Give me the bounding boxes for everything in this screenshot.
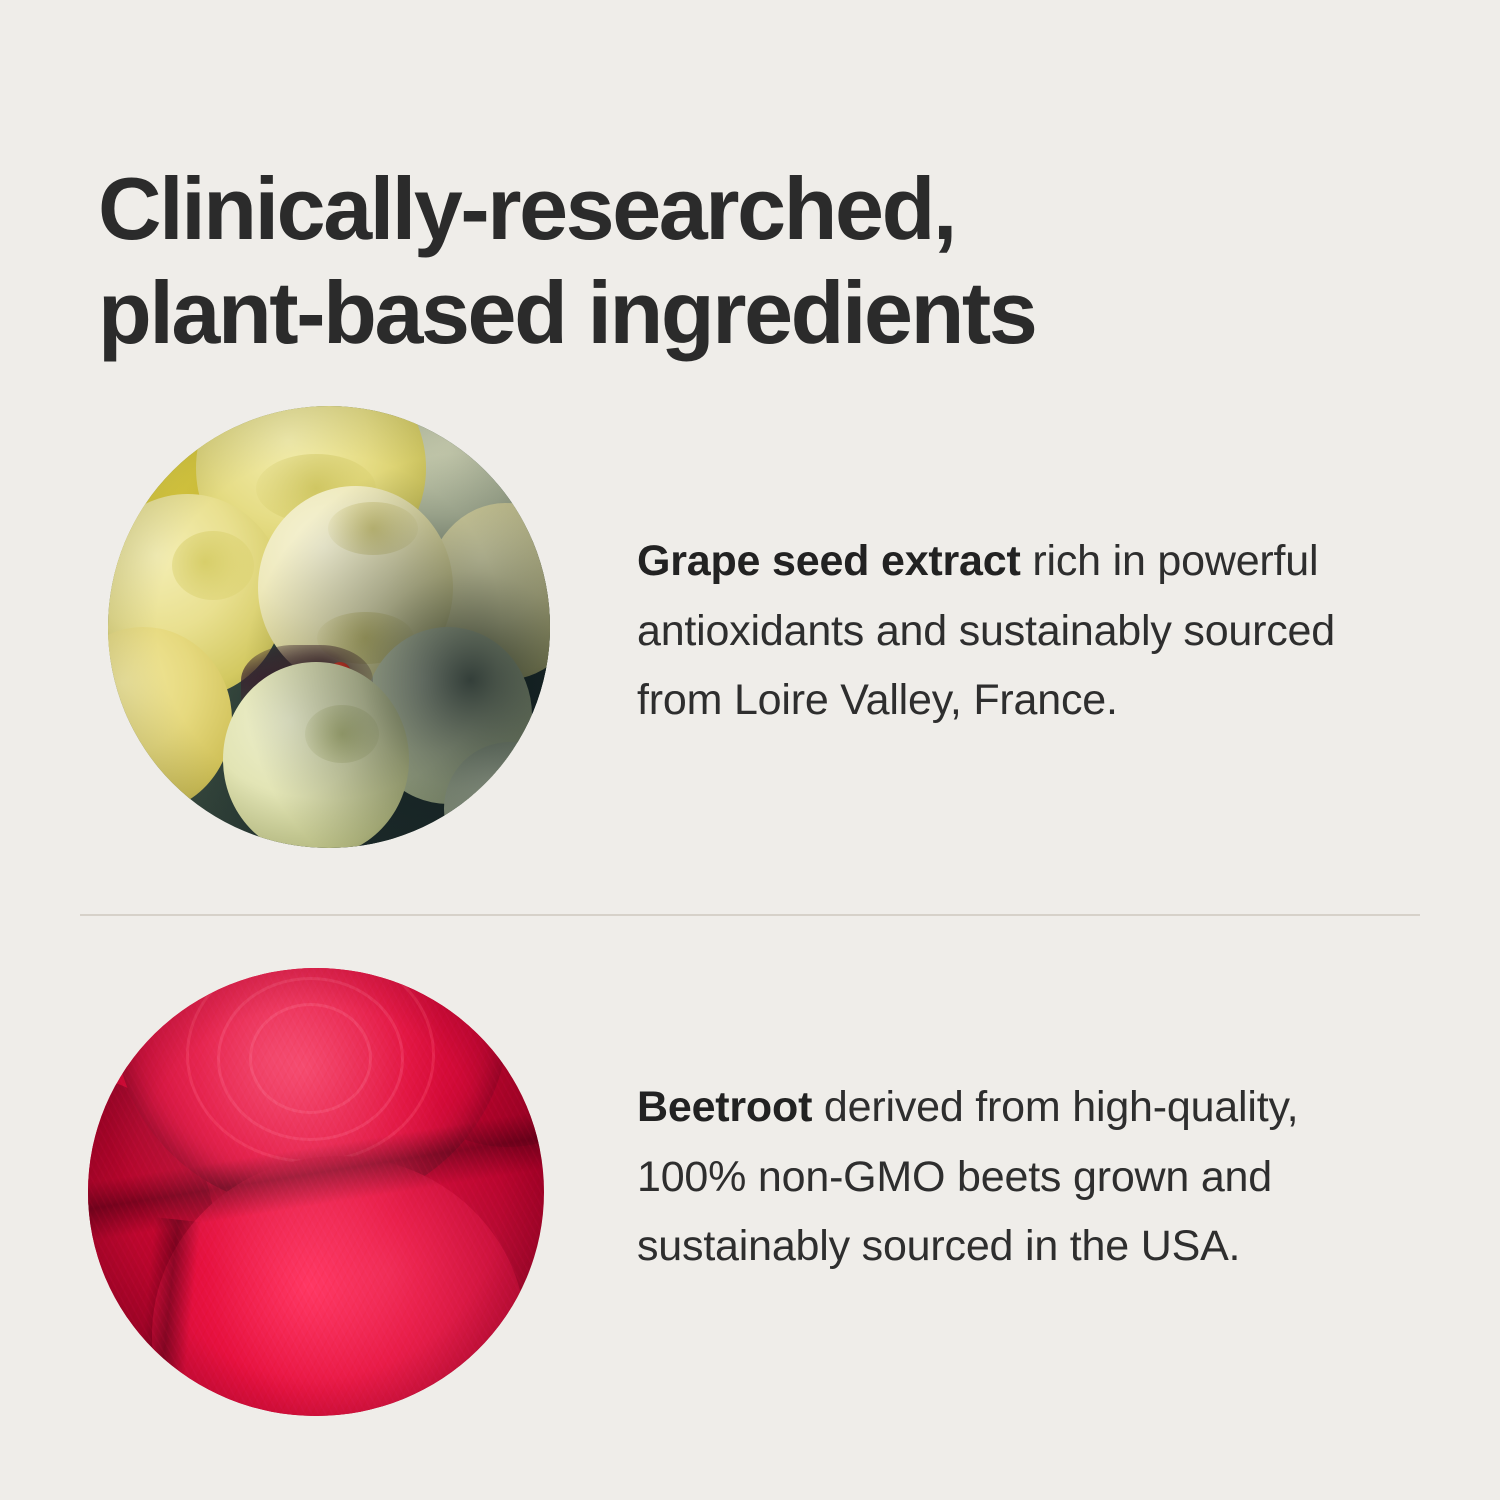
- beetroot-photo-artwork: [88, 968, 544, 1416]
- beetroot-label: Beetroot: [637, 1083, 812, 1131]
- beetroot-slices-photo: [88, 968, 544, 1416]
- page-title: Clinically-researched, plant-based ingre…: [98, 157, 1428, 365]
- ingredient-row-beetroot: Beetroot derived from high-quality, 100%…: [0, 968, 1500, 1420]
- grape-photo-artwork: [108, 406, 550, 848]
- ingredient-row-grape-seed-extract: Grape seed extract rich in powerful anti…: [0, 406, 1500, 876]
- section-divider: [80, 914, 1420, 916]
- ingredients-infographic: Clinically-researched, plant-based ingre…: [0, 0, 1500, 1500]
- grape-seed-extract-label: Grape seed extract: [637, 537, 1021, 585]
- beetroot-description: Beetroot derived from high-quality, 100%…: [637, 1073, 1397, 1282]
- grape-cluster-photo: [108, 406, 550, 848]
- beetroot-vignette: [88, 968, 544, 1416]
- grape-vignette: [108, 406, 550, 848]
- grape-seed-extract-description: Grape seed extract rich in powerful anti…: [637, 527, 1397, 736]
